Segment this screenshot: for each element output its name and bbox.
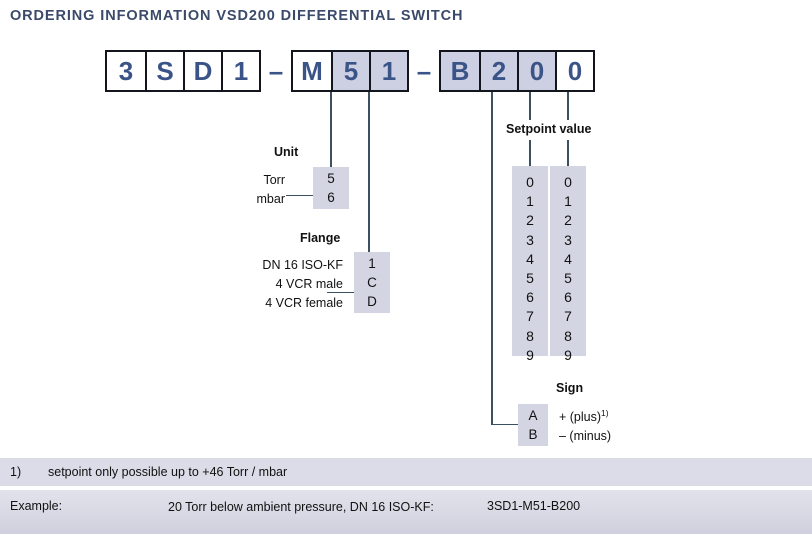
connector-sign-horizontal — [491, 424, 518, 426]
setpoint-digit: 7 — [564, 307, 572, 326]
part-number-cell-setpoint-2: 0 — [517, 52, 555, 90]
setpoint-digit: 0 — [526, 173, 534, 192]
connector-sign-vertical — [491, 92, 493, 425]
unit-heading: Unit — [274, 145, 298, 159]
sign-code-box: A B — [518, 404, 548, 446]
unit-option-labels: Torr mbar — [200, 171, 285, 209]
part-number-cell-unit: 5 — [331, 52, 369, 90]
unit-code: 5 — [327, 169, 335, 188]
setpoint-digit: 0 — [564, 173, 572, 192]
setpoint-digit: 6 — [564, 288, 572, 307]
part-number-cell: 0 — [555, 52, 593, 90]
setpoint-digit: 3 — [526, 231, 534, 250]
setpoint-digit: 1 — [526, 192, 534, 211]
flange-code-box: 1 C D — [354, 252, 390, 313]
setpoint-digit: 3 — [564, 231, 572, 250]
sign-footnote-marker: 1) — [601, 408, 609, 418]
setpoint-digit: 8 — [526, 327, 534, 346]
unit-code: 6 — [327, 188, 335, 207]
example-label: Example: — [10, 499, 62, 513]
example-band: Example: 20 Torr below ambient pressure,… — [0, 490, 812, 534]
setpoint-heading: Setpoint value — [506, 122, 591, 136]
part-number-cell-sign: B — [441, 52, 479, 90]
part-number-cell: 1 — [221, 52, 259, 90]
flange-code: D — [367, 292, 377, 311]
part-number-cell: M — [293, 52, 331, 90]
part-number-cell-setpoint-1: 2 — [479, 52, 517, 90]
setpoint-digit: 9 — [564, 346, 572, 365]
setpoint-digit: 2 — [564, 211, 572, 230]
flange-code: C — [367, 273, 377, 292]
part-number-cell-flange: 1 — [369, 52, 407, 90]
part-number-group-suffix: B 2 0 0 — [439, 50, 595, 92]
setpoint-digit: 1 — [564, 192, 572, 211]
connector-setpoint-first-vertical-2 — [529, 140, 531, 166]
sign-code: B — [528, 425, 537, 444]
setpoint-first-digit-column: 0 1 2 3 4 5 6 7 8 9 — [512, 166, 548, 356]
flange-code: 1 — [368, 254, 376, 273]
unit-code-box: 5 6 — [313, 167, 349, 209]
part-number-diagram: 3 S D 1 – M 5 1 – B 2 0 0 — [105, 50, 595, 92]
setpoint-digit: 5 — [526, 269, 534, 288]
part-number-group-prefix: 3 S D 1 — [105, 50, 261, 92]
sign-value-plus: + (plus)1) — [559, 404, 611, 427]
part-number-cell: S — [145, 52, 183, 90]
sign-value-plus-text: + (plus) — [559, 410, 601, 424]
page-title: ORDERING INFORMATION VSD200 DIFFERENTIAL… — [10, 8, 463, 24]
unit-label: mbar — [200, 190, 285, 209]
unit-label: Torr — [200, 171, 285, 190]
connector-setpoint-second-vertical-2 — [567, 140, 569, 166]
connector-setpoint-second-vertical — [567, 92, 569, 120]
flange-label: 4 VCR female — [215, 294, 343, 313]
setpoint-second-digit-column: 0 1 2 3 4 5 6 7 8 9 — [550, 166, 586, 356]
footnote-marker: 1) — [10, 465, 21, 479]
sign-code: A — [528, 406, 537, 425]
part-number-separator: – — [261, 50, 291, 92]
connector-setpoint-first-vertical — [529, 92, 531, 120]
sign-value-minus: – (minus) — [559, 427, 611, 446]
setpoint-digit: 6 — [526, 288, 534, 307]
flange-label: 4 VCR male — [215, 275, 343, 294]
setpoint-digit: 4 — [526, 250, 534, 269]
footnote-band: 1) setpoint only possible up to +46 Torr… — [0, 458, 812, 486]
footnote-text: setpoint only possible up to +46 Torr / … — [48, 465, 287, 479]
part-number-cell: D — [183, 52, 221, 90]
setpoint-digit: 8 — [564, 327, 572, 346]
example-description: 20 Torr below ambient pressure, DN 16 IS… — [168, 499, 458, 515]
sign-value-list: + (plus)1) – (minus) — [559, 404, 611, 446]
setpoint-digit: 9 — [526, 346, 534, 365]
sign-heading: Sign — [556, 381, 583, 395]
setpoint-digit: 2 — [526, 211, 534, 230]
part-number-cell: 3 — [107, 52, 145, 90]
flange-heading: Flange — [300, 231, 340, 245]
example-code: 3SD1-M51-B200 — [487, 499, 580, 513]
flange-option-labels: DN 16 ISO-KF 4 VCR male 4 VCR female — [215, 256, 343, 313]
setpoint-digit: 4 — [564, 250, 572, 269]
part-number-group-middle: M 5 1 — [291, 50, 409, 92]
setpoint-digit: 5 — [564, 269, 572, 288]
setpoint-digit: 7 — [526, 307, 534, 326]
flange-label: DN 16 ISO-KF — [215, 256, 343, 275]
part-number-separator: – — [409, 50, 439, 92]
